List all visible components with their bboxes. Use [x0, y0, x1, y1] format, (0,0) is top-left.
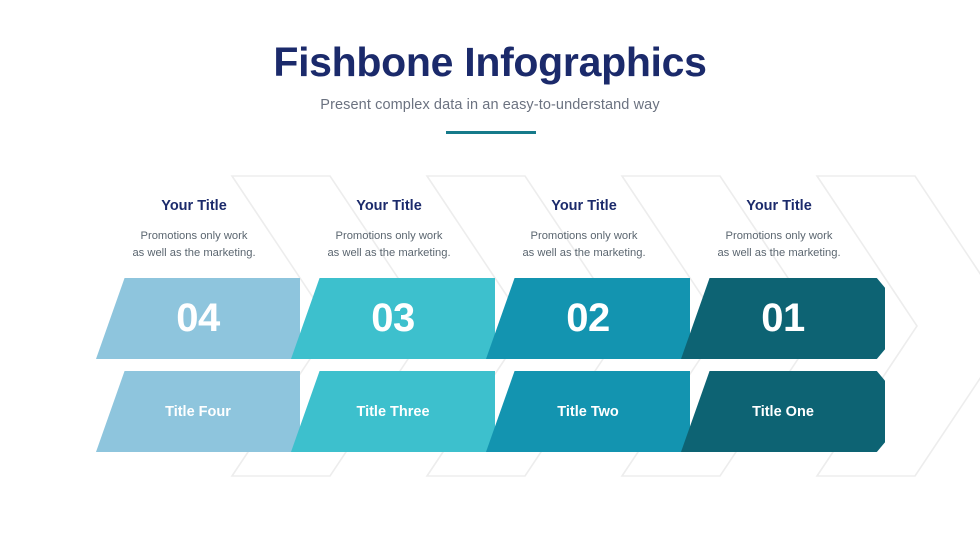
- step-heading: Your Title: [681, 198, 877, 214]
- step-heading: Your Title: [291, 198, 487, 214]
- step-description: Promotions only work as well as the mark…: [291, 228, 487, 262]
- step-column-02[interactable]: Your Title Promotions only work as well …: [486, 0, 682, 551]
- step-description-line1: Promotions only work: [96, 228, 292, 245]
- step-label: Title Four: [165, 404, 231, 420]
- step-number: 03: [371, 296, 415, 341]
- steps-container: Your Title Promotions only work as well …: [0, 0, 980, 551]
- step-number-chevron-03[interactable]: 03: [291, 278, 495, 359]
- step-description-line2: as well as the marketing.: [291, 245, 487, 262]
- step-number-chevron-02[interactable]: 02: [486, 278, 690, 359]
- step-number: 02: [566, 296, 610, 341]
- step-column-03[interactable]: Your Title Promotions only work as well …: [291, 0, 487, 551]
- step-description-line2: as well as the marketing.: [681, 245, 877, 262]
- step-description-line2: as well as the marketing.: [486, 245, 682, 262]
- step-description-line1: Promotions only work: [681, 228, 877, 245]
- step-column-04[interactable]: Your Title Promotions only work as well …: [96, 0, 292, 551]
- step-label: Title One: [752, 404, 814, 420]
- step-number-chevron-04[interactable]: 04: [96, 278, 300, 359]
- step-description-line1: Promotions only work: [291, 228, 487, 245]
- step-number: 01: [761, 296, 805, 341]
- step-number: 04: [176, 296, 220, 341]
- step-description: Promotions only work as well as the mark…: [681, 228, 877, 262]
- slide: Fishbone Infographics Present complex da…: [0, 0, 980, 551]
- step-description: Promotions only work as well as the mark…: [96, 228, 292, 262]
- step-number-chevron-01[interactable]: 01: [681, 278, 885, 359]
- step-label-chevron-03[interactable]: Title Three: [291, 371, 495, 452]
- step-label-chevron-04[interactable]: Title Four: [96, 371, 300, 452]
- step-description: Promotions only work as well as the mark…: [486, 228, 682, 262]
- step-label: Title Three: [356, 404, 429, 420]
- step-heading: Your Title: [96, 198, 292, 214]
- step-label-chevron-02[interactable]: Title Two: [486, 371, 690, 452]
- step-description-line1: Promotions only work: [486, 228, 682, 245]
- step-column-01[interactable]: Your Title Promotions only work as well …: [681, 0, 877, 551]
- step-heading: Your Title: [486, 198, 682, 214]
- step-description-line2: as well as the marketing.: [96, 245, 292, 262]
- step-label-chevron-01[interactable]: Title One: [681, 371, 885, 452]
- step-label: Title Two: [557, 404, 619, 420]
